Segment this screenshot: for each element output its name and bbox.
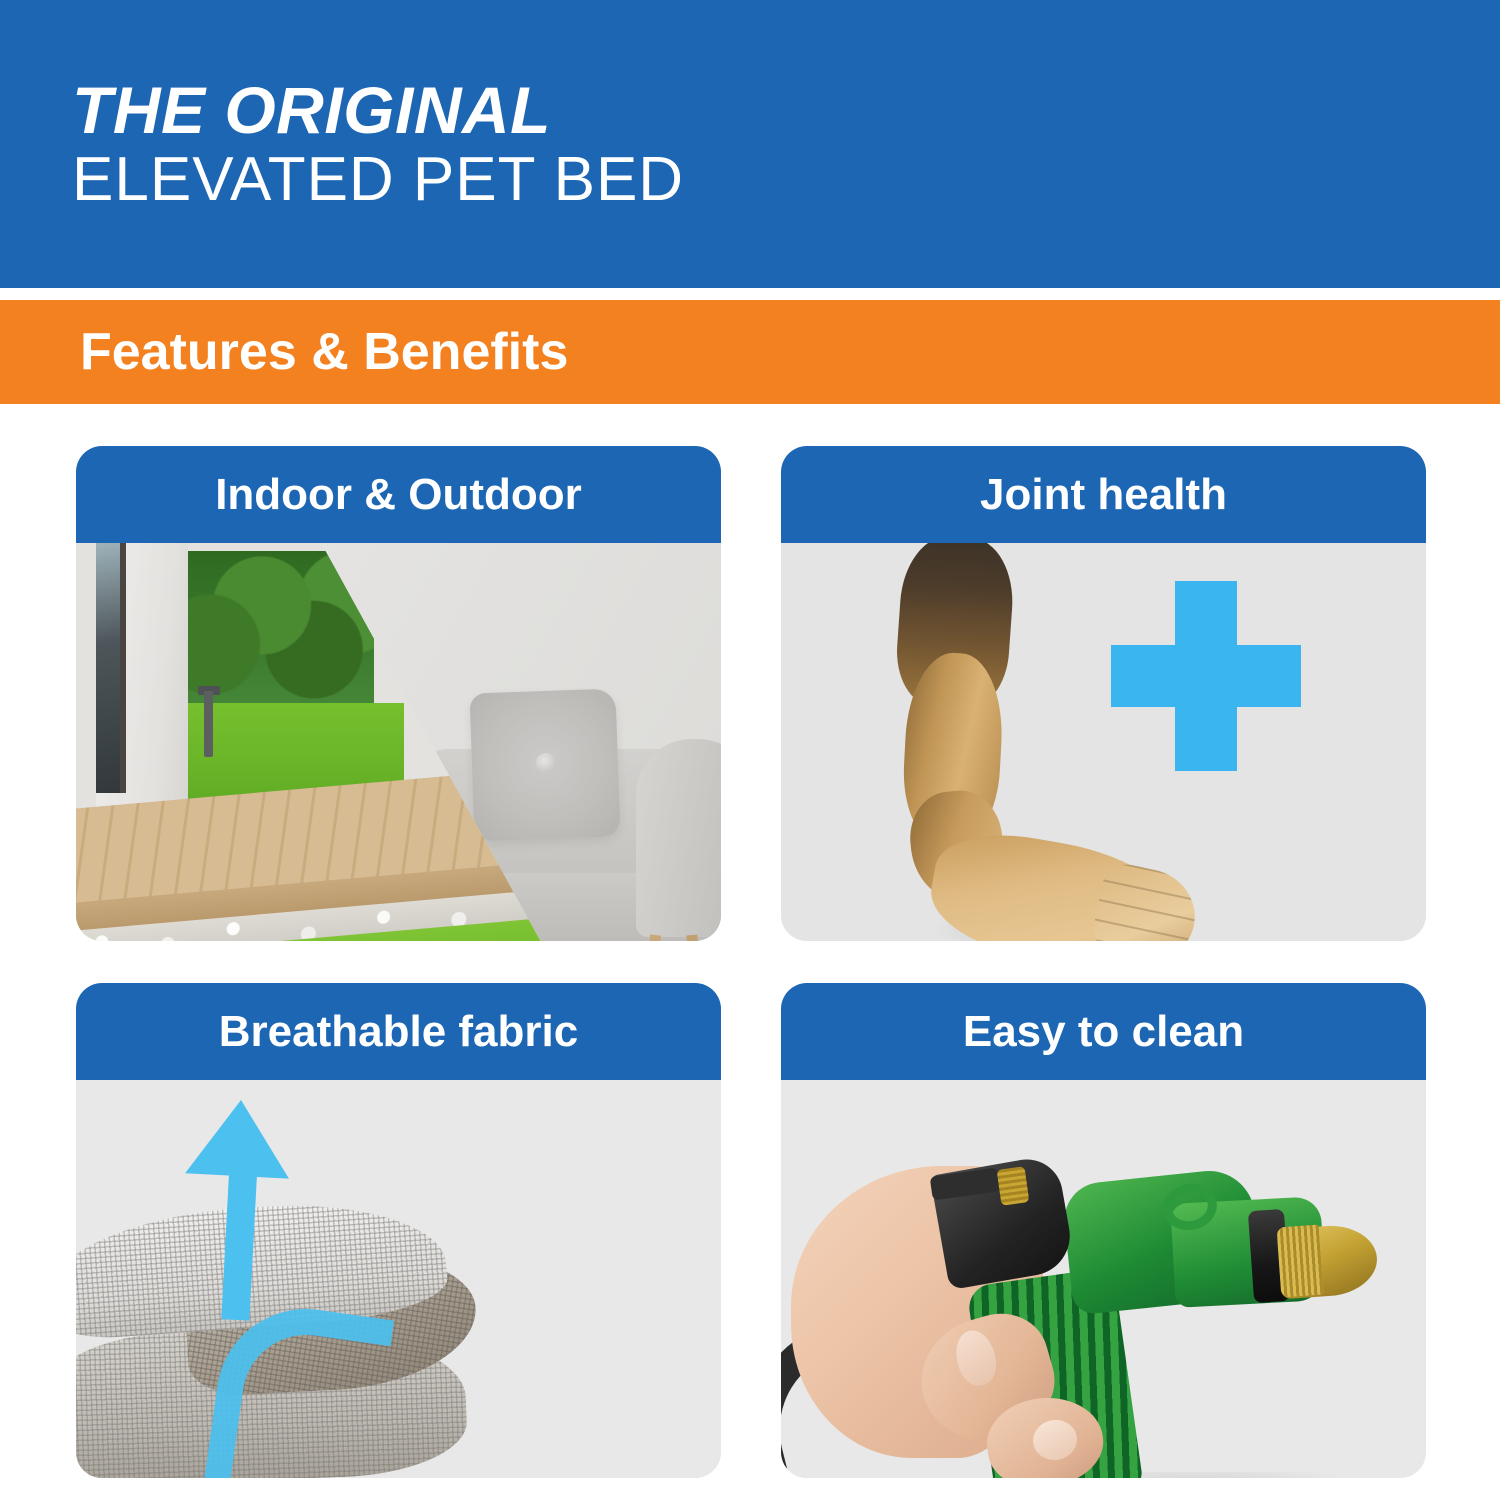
card-image-joint-health (781, 543, 1426, 941)
easy-to-clean-scene (781, 1080, 1426, 1478)
feature-card-joint-health: Joint health (781, 446, 1426, 941)
window-frame (120, 543, 126, 793)
sofa-arm (636, 739, 721, 937)
joint-health-scene (781, 543, 1426, 941)
card-header-joint-health: Joint health (781, 446, 1426, 543)
hero-title-line2: ELEVATED PET BED (72, 148, 1500, 211)
hero-title-line1: THE ORIGINAL (72, 77, 1500, 144)
card-image-breathable-fabric (76, 1080, 721, 1478)
section-band-title: Features & Benefits (80, 322, 568, 382)
feature-card-easy-to-clean: Easy to clean (781, 983, 1426, 1478)
infographic-page: THE ORIGINAL ELEVATED PET BED Features &… (0, 0, 1500, 1500)
breathable-fabric-scene (76, 1080, 721, 1478)
card-image-indoor-outdoor (76, 543, 721, 941)
sofa-cushion (469, 688, 620, 841)
card-title: Joint health (980, 470, 1227, 520)
card-title: Breathable fabric (219, 1007, 578, 1057)
card-title: Easy to clean (963, 1007, 1244, 1057)
house-window (96, 543, 120, 793)
card-header-breathable-fabric: Breathable fabric (76, 983, 721, 1080)
cushion-button (536, 753, 557, 774)
up-arrow-icon (185, 1097, 293, 1178)
brass-adjust-screw (997, 1166, 1030, 1206)
hero-banner: THE ORIGINAL ELEVATED PET BED (0, 0, 1500, 288)
card-image-easy-to-clean (781, 1080, 1426, 1478)
house-column (96, 543, 188, 823)
card-header-indoor-outdoor: Indoor & Outdoor (76, 446, 721, 543)
feature-card-grid: Indoor & Outdoor (76, 446, 1426, 1478)
brass-knurled-ring (1277, 1225, 1324, 1298)
feature-card-breathable-fabric: Breathable fabric (76, 983, 721, 1478)
section-band: Features & Benefits (0, 300, 1500, 404)
feature-card-indoor-outdoor: Indoor & Outdoor (76, 446, 721, 941)
medical-cross-icon (1111, 645, 1301, 707)
garden-light-post (204, 691, 213, 757)
indoor-outdoor-scene (76, 543, 721, 941)
card-header-easy-to-clean: Easy to clean (781, 983, 1426, 1080)
card-title: Indoor & Outdoor (215, 470, 582, 520)
